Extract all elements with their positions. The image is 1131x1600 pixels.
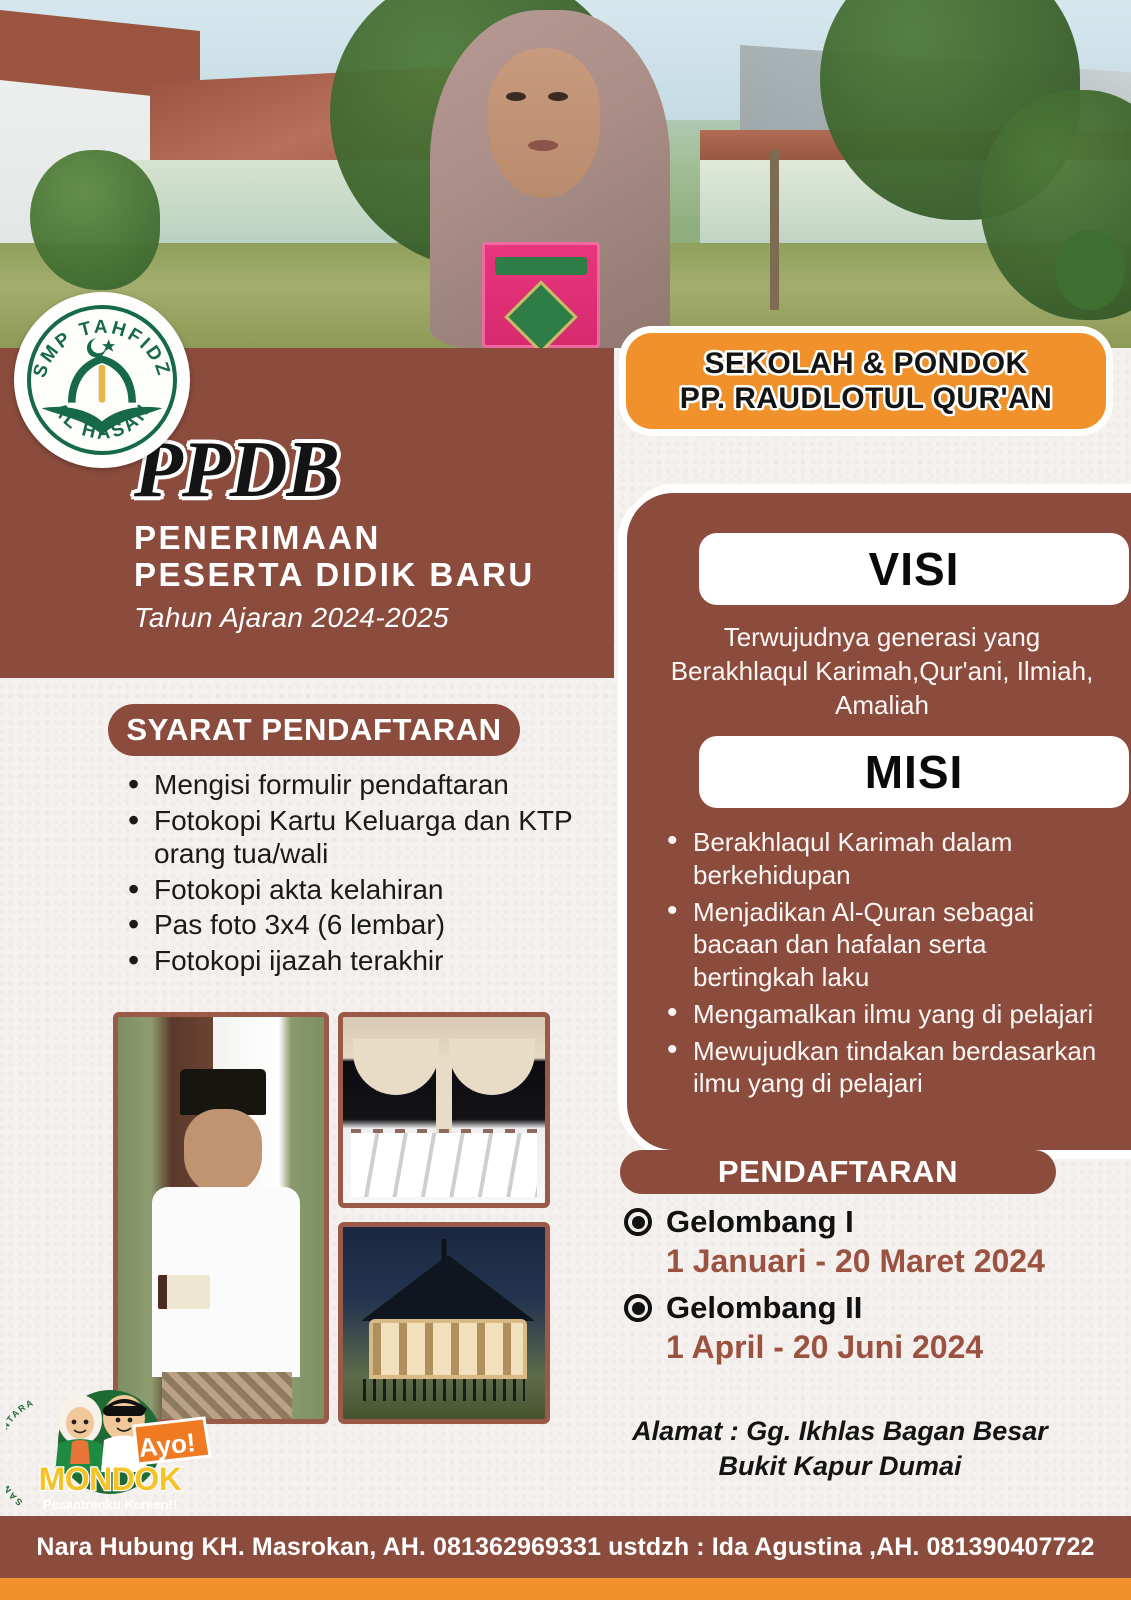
vision-mission-panel: VISI Terwujudnya generasi yang Berakhlaq… xyxy=(627,493,1131,1150)
footer-orange-strip xyxy=(0,1578,1131,1600)
arch xyxy=(449,1039,535,1095)
wave-1-row: Gelombang I xyxy=(624,1204,1045,1240)
pendaftaran-heading: PENDAFTARAN xyxy=(718,1154,958,1190)
mondok-ayo-text: Ayo! xyxy=(137,1427,197,1463)
misi-list: Berakhlaqul Karimah dalam berkehidupan M… xyxy=(663,826,1109,1104)
contact-footer-bar: Nara Hubung KH. Masrokan, AH. 0813629693… xyxy=(0,1516,1131,1578)
photo-kiai-reading-quran xyxy=(113,1012,329,1424)
visi-heading-box: VISI xyxy=(699,533,1129,605)
logo-bottom-arc-text: AL HASAN xyxy=(49,399,155,443)
radio-selected-icon[interactable] xyxy=(624,1208,652,1236)
ppdb-acronym: PPDB xyxy=(134,432,604,508)
hero-photo xyxy=(0,0,1131,348)
face xyxy=(488,48,600,198)
list-item: Fotokopi akta kelahiran xyxy=(124,873,584,907)
svg-text:SANTRI NUSANTARA: SANTRI NUSANTARA xyxy=(6,1397,36,1507)
quran-book xyxy=(482,242,600,348)
ppdb-academic-year: Tahun Ajaran 2024-2025 xyxy=(134,602,604,634)
wave-1-dates: 1 Januari - 20 Maret 2024 xyxy=(666,1243,1045,1280)
wave-2-dates: 1 April - 20 Juni 2024 xyxy=(666,1329,983,1366)
list-item: Mewujudkan tindakan berdasarkan ilmu yan… xyxy=(663,1035,1109,1101)
photo-students-night-study-hall xyxy=(338,1012,550,1208)
banner-line1: SEKOLAH & PONDOK xyxy=(704,346,1027,381)
wave-2-block: Gelombang II 1 April - 20 Juni 2024 xyxy=(624,1290,983,1366)
prayer-mat-lines xyxy=(351,1133,537,1197)
banner-line2: PP. RAUDLOTUL QUR'AN xyxy=(680,381,1052,416)
pillar xyxy=(436,1057,452,1139)
tree-foliage xyxy=(30,150,160,290)
address-line1: Alamat : Gg. Ikhlas Bagan Besar xyxy=(620,1414,1060,1449)
misi-heading-box: MISI xyxy=(699,736,1129,808)
logo-emblem-svg: SMP TAHFIDZ AL HASAN xyxy=(19,297,185,463)
address-line2: Bukit Kapur Dumai xyxy=(620,1449,1060,1484)
wave-2-row: Gelombang II xyxy=(624,1290,983,1326)
poster-canvas: SMP TAHFIDZ AL HASAN PPDB PENERIMAAN PES… xyxy=(0,0,1131,1600)
student-photo-subject xyxy=(430,10,670,348)
list-item: Pas foto 3x4 (6 lembar) xyxy=(124,908,584,942)
mosque-roof xyxy=(361,1255,535,1321)
open-book xyxy=(158,1275,210,1309)
school-name-banner: SEKOLAH & PONDOK PP. RAUDLOTUL QUR'AN xyxy=(626,333,1106,429)
syarat-heading: SYARAT PENDAFTARAN xyxy=(126,712,501,748)
wave-2-label: Gelombang II xyxy=(666,1290,862,1326)
wave-1-block: Gelombang I 1 Januari - 20 Maret 2024 xyxy=(624,1204,1045,1280)
quran-medallion xyxy=(504,280,578,348)
mosque-columns xyxy=(373,1323,523,1375)
photo-mosque-at-dusk xyxy=(338,1222,550,1424)
arch xyxy=(353,1039,439,1095)
eye xyxy=(548,92,568,101)
svg-text:AL HASAN: AL HASAN xyxy=(49,399,155,443)
syarat-heading-pill: SYARAT PENDAFTARAN xyxy=(108,704,520,756)
pendaftaran-heading-pill: PENDAFTARAN xyxy=(620,1150,1056,1194)
tree-trunk xyxy=(770,150,779,310)
ppdb-title-block: PPDB PENERIMAAN PESERTA DIDIK BARU Tahun… xyxy=(134,432,604,634)
list-item: Menjadikan Al-Quran sebagai bacaan dan h… xyxy=(663,896,1109,994)
list-item: Fotokopi Kartu Keluarga dan KTP orang tu… xyxy=(124,804,584,871)
mouth xyxy=(528,140,558,151)
address-block: Alamat : Gg. Ikhlas Bagan Besar Bukit Ka… xyxy=(620,1414,1060,1483)
head xyxy=(184,1109,262,1195)
mondok-word-text: MONDOK xyxy=(39,1461,182,1497)
radio-selected-icon[interactable] xyxy=(624,1294,652,1322)
ppdb-subtitle-line2: PESERTA DIDIK BARU xyxy=(134,557,604,594)
list-item: Mengisi formulir pendaftaran xyxy=(124,768,584,802)
mondok-ayo-banner: Ayo! xyxy=(134,1418,210,1464)
crescent-star-icon xyxy=(87,339,115,358)
misi-heading: MISI xyxy=(865,745,964,799)
ayo-mondok-logo: SANTRI NUSANTARA Ayo! MONDOK Pesantrenku xyxy=(6,1378,218,1520)
mondok-arc-text: SANTRI NUSANTARA xyxy=(6,1397,36,1507)
list-item: Berakhlaqul Karimah dalam berkehidupan xyxy=(663,826,1109,892)
list-item: Mengamalkan ilmu yang di pelajari xyxy=(663,998,1109,1031)
bush xyxy=(1055,230,1125,310)
quran-band xyxy=(495,257,587,275)
contact-text: Nara Hubung KH. Masrokan, AH. 0813629693… xyxy=(36,1533,1094,1562)
list-item: Fotokopi ijazah terakhir xyxy=(124,944,584,978)
ppdb-subtitle-line1: PENERIMAAN xyxy=(134,520,604,557)
syarat-list: Mengisi formulir pendaftaran Fotokopi Ka… xyxy=(124,768,584,980)
visi-heading: VISI xyxy=(869,542,960,596)
wave-1-label: Gelombang I xyxy=(666,1204,854,1240)
fence xyxy=(363,1379,525,1401)
eye xyxy=(506,92,526,101)
mondok-tagline-text: Pesantrenku Kereen!! xyxy=(43,1497,177,1512)
school-logo: SMP TAHFIDZ AL HASAN xyxy=(14,292,190,468)
visi-text: Terwujudnya generasi yang Berakhlaqul Ka… xyxy=(657,621,1107,722)
